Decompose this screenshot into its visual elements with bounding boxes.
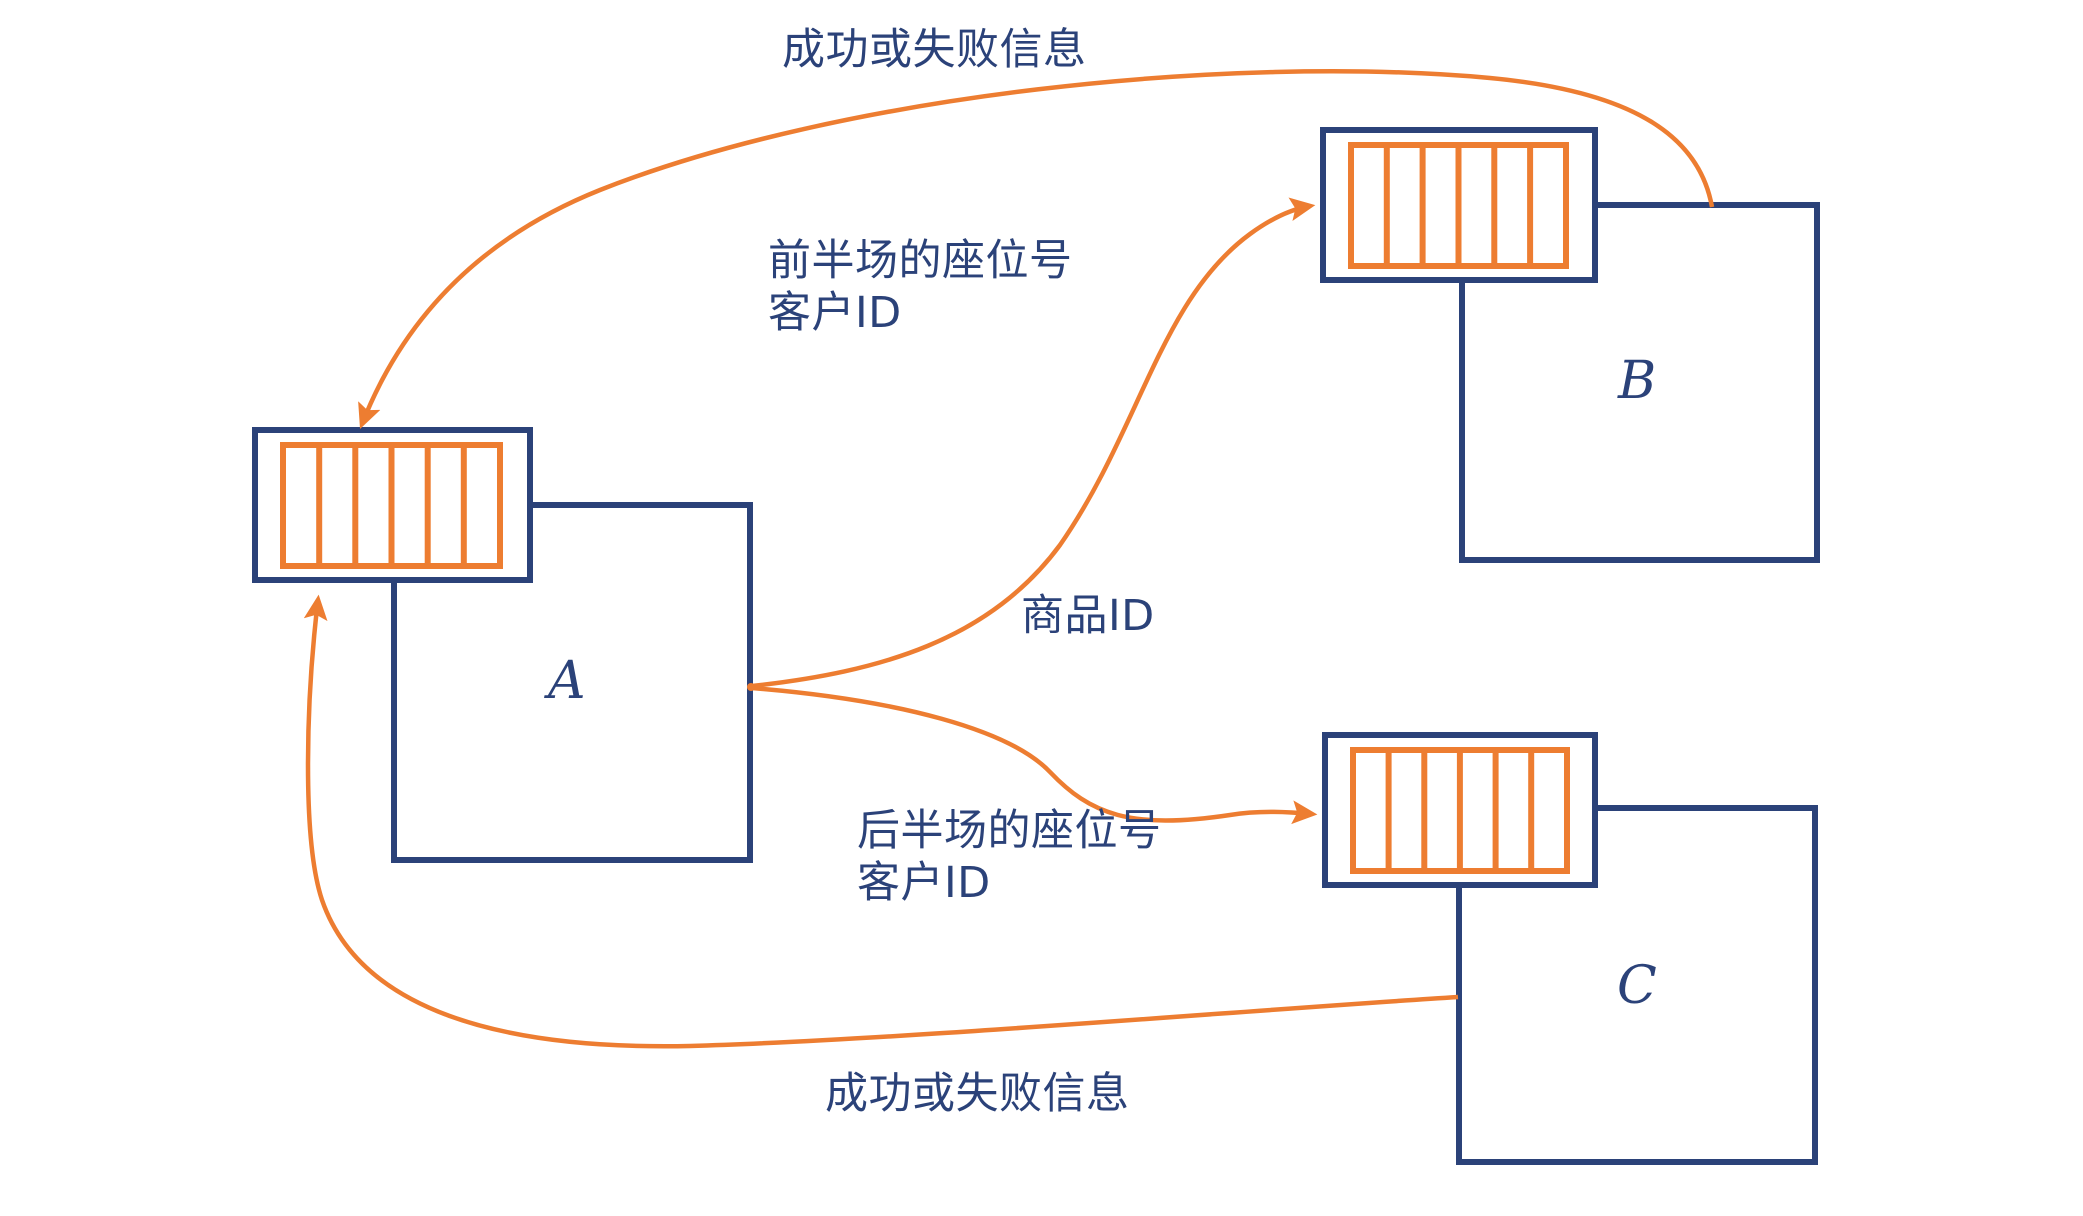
diagram-canvas: 成功或失败信息 前半场的座位号 客户ID 商品ID 后半场的座位号 客户ID 成… [0, 0, 2083, 1216]
edge-a-to-c[interactable] [752, 688, 1312, 821]
node-c-label: C [1617, 960, 1657, 1012]
edge-branch-origin-dot [747, 683, 755, 691]
node-a[interactable] [255, 430, 750, 860]
node-b[interactable] [1323, 130, 1817, 560]
node-a-label: A [548, 655, 586, 707]
edge-label-c-to-a: 成功或失败信息 [825, 1068, 1130, 1120]
edge-label-a-to-b: 前半场的座位号 客户ID [768, 235, 1073, 340]
edge-label-b-to-a: 成功或失败信息 [782, 24, 1087, 76]
edge-label-a-to-c: 后半场的座位号 客户ID [857, 805, 1162, 910]
node-b-label: B [1618, 355, 1656, 407]
node-c[interactable] [1325, 735, 1815, 1162]
edge-label-a-branch: 商品ID [1021, 590, 1155, 642]
